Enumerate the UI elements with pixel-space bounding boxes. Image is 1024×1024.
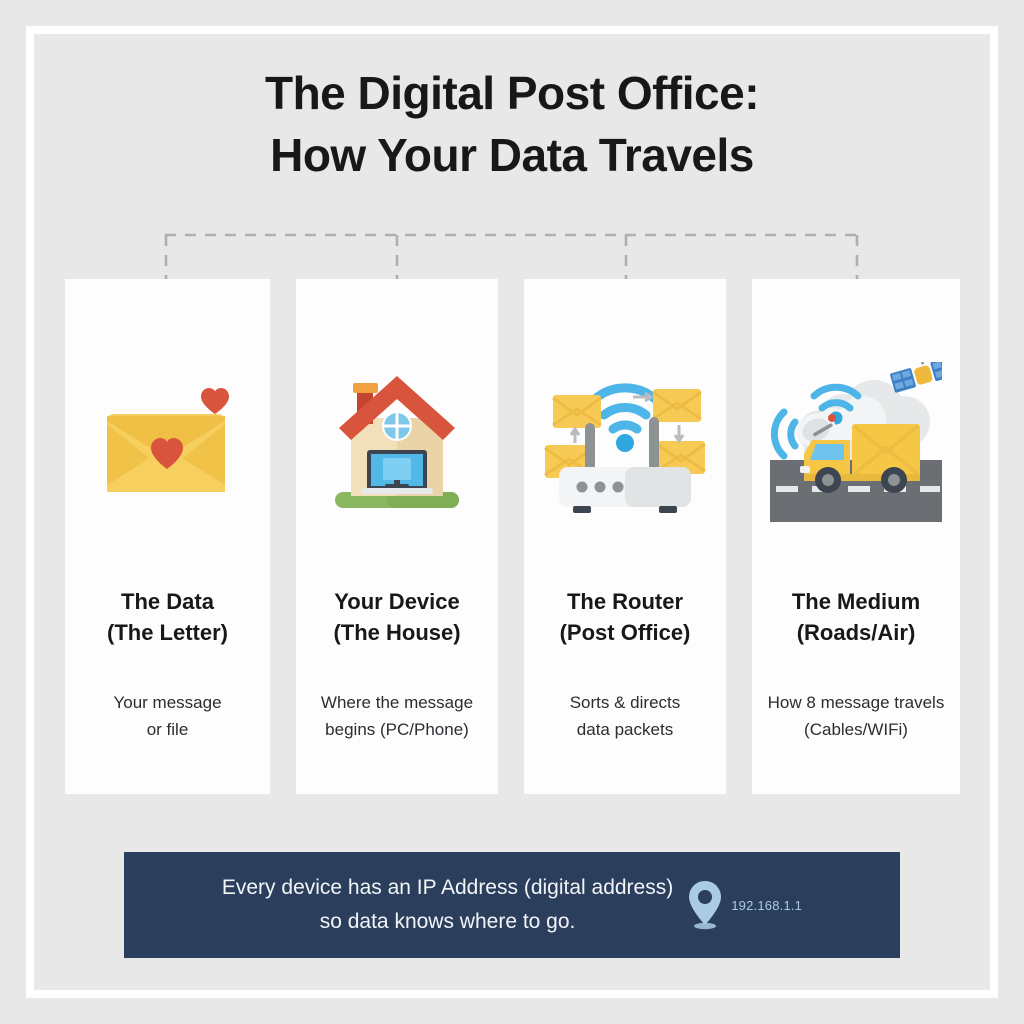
card-the-medium[interactable]: The Medium (Roads/Air) How 8 message tra… (752, 279, 960, 794)
card-art-3 (524, 357, 726, 527)
ip-address-value: 192.168.1.1 (731, 898, 802, 913)
card-desc-3: Sorts & directs data packets (508, 689, 742, 743)
card-title-3-line-2: (Post Office) (510, 617, 740, 648)
house-computer-icon (325, 370, 469, 514)
stage-cards-row: The Data (The Letter) Your message or fi… (0, 279, 1024, 794)
card-desc-4: How 8 message travels (Cables/WIFi) (736, 689, 976, 743)
card-title-1: The Data (The Letter) (51, 586, 284, 648)
envelope-heart-icon (93, 382, 243, 502)
card-art-1 (65, 357, 270, 527)
title-line-1: The Digital Post Office: (265, 67, 759, 119)
map-pin-icon (687, 880, 723, 930)
ip-pin-group: 192.168.1.1 (687, 880, 802, 930)
banner-line-1: Every device has an IP Address (digital … (222, 876, 673, 899)
card-title-2-line-1: Your Device (334, 589, 460, 614)
card-the-data[interactable]: The Data (The Letter) Your message or fi… (65, 279, 270, 794)
banner-text: Every device has an IP Address (digital … (222, 871, 673, 939)
card-title-4: The Medium (Roads/Air) (738, 586, 974, 648)
card-the-router[interactable]: The Router (Post Office) Sorts & directs… (524, 279, 726, 794)
infographic-canvas: The Digital Post Office: How Your Data T… (0, 0, 1024, 1024)
card-title-1-line-1: The Data (121, 589, 214, 614)
card-title-2: Your Device (The House) (282, 586, 512, 648)
card-desc-3-line-1: Sorts & directs (570, 693, 681, 712)
page-title: The Digital Post Office: How Your Data T… (0, 62, 1024, 186)
router-wifi-icon (541, 367, 709, 517)
packet-envelope-left-top (553, 395, 601, 428)
card-desc-4-line-1: How 8 message travels (768, 693, 945, 712)
card-art-2 (296, 357, 498, 527)
delivery-truck-satellite-icon (770, 362, 942, 522)
card-title-1-line-2: (The Letter) (51, 617, 284, 648)
card-desc-2-line-2: begins (PC/Phone) (280, 716, 514, 743)
card-art-4 (752, 357, 960, 527)
card-title-3: The Router (Post Office) (510, 586, 740, 648)
card-desc-1-line-1: Your message (113, 693, 221, 712)
card-desc-3-line-2: data packets (508, 716, 742, 743)
card-desc-2-line-1: Where the message (321, 693, 473, 712)
card-desc-4-line-2: (Cables/WIFi) (736, 716, 976, 743)
card-desc-1-line-2: or file (49, 716, 286, 743)
satellite-icon (886, 362, 942, 393)
card-desc-2: Where the message begins (PC/Phone) (280, 689, 514, 743)
card-title-4-line-1: The Medium (792, 589, 920, 614)
card-your-device[interactable]: Your Device (The House) Where the messag… (296, 279, 498, 794)
card-desc-1: Your message or file (49, 689, 286, 743)
card-title-4-line-2: (Roads/Air) (738, 617, 974, 648)
ip-address-banner: Every device has an IP Address (digital … (124, 852, 900, 958)
title-line-2: How Your Data Travels (0, 124, 1024, 186)
banner-line-2: so data knows where to go. (222, 905, 673, 939)
packet-envelope-right-top (653, 389, 701, 422)
card-title-2-line-2: (The House) (282, 617, 512, 648)
card-title-3-line-1: The Router (567, 589, 683, 614)
